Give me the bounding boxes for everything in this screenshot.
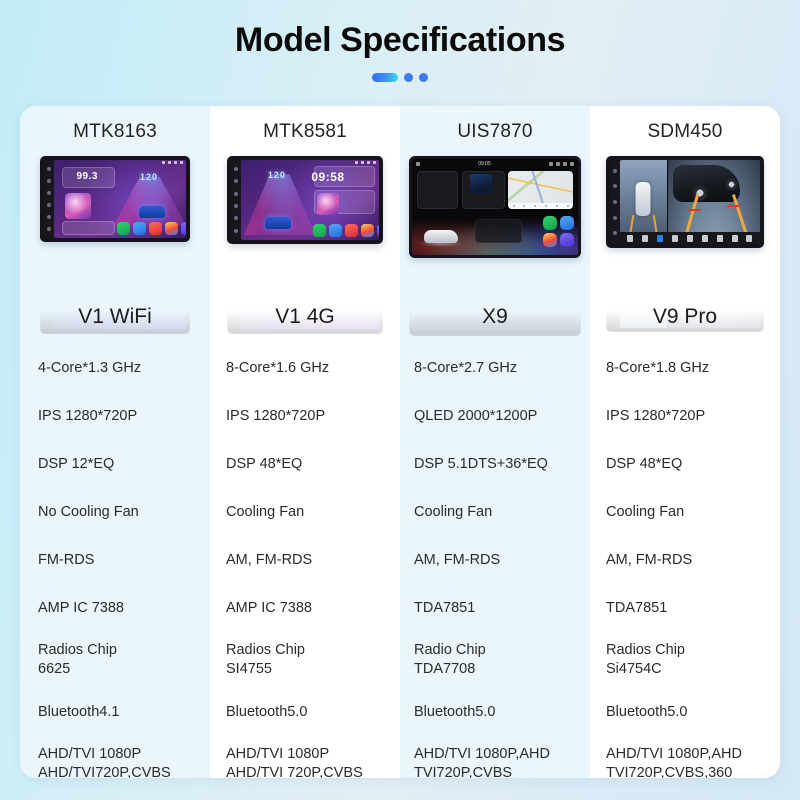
device-screen: 09:05 bbox=[412, 159, 578, 255]
carousel-pagination[interactable] bbox=[0, 71, 800, 83]
spec-cpu-3: 8-Core*2.7 GHz bbox=[400, 344, 590, 392]
chip-name-3: UIS7870 bbox=[400, 106, 590, 150]
spec-dsp-1: DSP 12*EQ bbox=[20, 440, 210, 488]
camera-mode-rear-icon[interactable] bbox=[627, 235, 633, 242]
device-image-v9-pro bbox=[590, 150, 780, 300]
device-image-v1-4g: 120 09:58 bbox=[210, 150, 400, 300]
spec-camera-input-1: AHD/TVI 1080P AHD/TVI720P,CVBS bbox=[20, 736, 210, 778]
app-shortcuts[interactable] bbox=[543, 216, 574, 247]
camera-mode-front-icon[interactable] bbox=[642, 235, 648, 242]
speed-readout: 120 bbox=[140, 172, 158, 182]
spec-radio-chip-3: Radio Chip TDA7708 bbox=[400, 632, 590, 688]
album-art bbox=[470, 174, 492, 194]
spec-cpu-1: 4-Core*1.3 GHz bbox=[20, 344, 210, 392]
device-screen bbox=[620, 160, 760, 244]
spec-radio-chip-2: Radios Chip SI4755 bbox=[210, 632, 400, 688]
camera-360-view bbox=[620, 160, 760, 244]
clock-readout: 09:05 bbox=[478, 161, 491, 167]
camera-mode-left-icon[interactable] bbox=[672, 235, 678, 242]
speed-readout: 120 bbox=[268, 170, 286, 180]
spec-cooling-3: Cooling Fan bbox=[400, 488, 590, 536]
spec-column-mtk8163[interactable]: MTK8163 99.3 120 bbox=[20, 106, 210, 778]
device-sidebar bbox=[231, 160, 241, 240]
spec-radio-chip-1: Radios Chip 6625 bbox=[20, 632, 210, 688]
spec-radio-band-1: FM-RDS bbox=[20, 536, 210, 584]
spec-list-3: 8-Core*2.7 GHz QLED 2000*1200P DSP 5.1DT… bbox=[400, 334, 590, 778]
spec-display-2: IPS 1280*720P bbox=[210, 392, 400, 440]
spec-cpu-2: 8-Core*1.6 GHz bbox=[210, 344, 400, 392]
spec-column-sdm450[interactable]: SDM450 bbox=[590, 106, 780, 778]
map-card bbox=[508, 171, 573, 209]
clock-readout: 09:58 bbox=[311, 170, 344, 184]
spec-dsp-4: DSP 48*EQ bbox=[590, 440, 780, 488]
spec-cpu-4: 8-Core*1.8 GHz bbox=[590, 344, 780, 392]
spec-bluetooth-2: Bluetooth5.0 bbox=[210, 688, 400, 736]
chip-name-2: MTK8581 bbox=[210, 106, 400, 150]
spec-bluetooth-3: Bluetooth5.0 bbox=[400, 688, 590, 736]
spec-cooling-1: No Cooling Fan bbox=[20, 488, 210, 536]
chip-name-4: SDM450 bbox=[590, 106, 780, 150]
device-screen: 99.3 120 bbox=[54, 160, 186, 238]
page-title: Model Specifications bbox=[0, 18, 800, 62]
chip-name-1: MTK8163 bbox=[20, 106, 210, 150]
camera-settings-gear-icon[interactable] bbox=[746, 235, 752, 242]
spec-radio-chip-4: Radios Chip Si4754C bbox=[590, 632, 780, 688]
spec-bluetooth-4: Bluetooth5.0 bbox=[590, 688, 780, 736]
spec-bluetooth-1: Bluetooth4.1 bbox=[20, 688, 210, 736]
radio-frequency: 99.3 bbox=[76, 171, 97, 182]
camera-mode-split-icon[interactable] bbox=[717, 235, 723, 242]
camera-mode-right-icon[interactable] bbox=[687, 235, 693, 242]
spec-comparison-card: MTK8163 99.3 120 bbox=[20, 106, 780, 778]
spec-camera-input-3: AHD/TVI 1080P,AHD TVI720P,CVBS bbox=[400, 736, 590, 778]
status-bar-icons bbox=[162, 161, 183, 164]
page-header: Model Specifications bbox=[0, 0, 800, 83]
car-top-icon bbox=[636, 182, 651, 216]
shortcut-list-card bbox=[417, 171, 459, 209]
device-screen: 120 09:58 bbox=[241, 160, 379, 240]
pagination-active-pill[interactable] bbox=[372, 73, 398, 82]
status-bar: 09:05 bbox=[412, 159, 578, 168]
spec-list-1: 4-Core*1.3 GHz IPS 1280*720P DSP 12*EQ N… bbox=[20, 334, 210, 778]
spec-cooling-4: Cooling Fan bbox=[590, 488, 780, 536]
spec-cooling-2: Cooling Fan bbox=[210, 488, 400, 536]
spec-display-1: IPS 1280*720P bbox=[20, 392, 210, 440]
spec-column-uis7870[interactable]: UIS7870 09:05 bbox=[400, 106, 590, 778]
status-bar-icons bbox=[355, 161, 376, 164]
spec-amp-ic-3: TDA7851 bbox=[400, 584, 590, 632]
trip-info-card bbox=[475, 219, 521, 244]
spec-camera-input-4: AHD/TVI 1080P,AHD TVI720P,CVBS,360 bbox=[590, 736, 780, 778]
camera-view-toolbar[interactable] bbox=[620, 232, 760, 244]
pagination-dot-2[interactable] bbox=[404, 73, 413, 82]
spec-amp-ic-1: AMP IC 7388 bbox=[20, 584, 210, 632]
device-sidebar bbox=[610, 160, 620, 244]
spec-amp-ic-4: TDA7851 bbox=[590, 584, 780, 632]
spec-radio-band-4: AM, FM-RDS bbox=[590, 536, 780, 584]
spec-list-2: 8-Core*1.6 GHz IPS 1280*720P DSP 48*EQ C… bbox=[210, 334, 400, 778]
device-sidebar bbox=[44, 160, 54, 238]
spec-amp-ic-2: AMP IC 7388 bbox=[210, 584, 400, 632]
spec-display-3: QLED 2000*1200P bbox=[400, 392, 590, 440]
model-name-2: V1 4G bbox=[210, 300, 400, 334]
camera-mode-360-icon[interactable] bbox=[657, 235, 663, 242]
spec-radio-band-2: AM, FM-RDS bbox=[210, 536, 400, 584]
camera-mode-record-icon[interactable] bbox=[732, 235, 738, 242]
model-name-3: X9 bbox=[400, 300, 590, 334]
camera-mode-top-icon[interactable] bbox=[702, 235, 708, 242]
pagination-dot-3[interactable] bbox=[419, 73, 428, 82]
device-image-x9: 09:05 bbox=[400, 150, 590, 300]
model-name-1: V1 WiFi bbox=[20, 300, 210, 334]
spec-dsp-2: DSP 48*EQ bbox=[210, 440, 400, 488]
car-illustration bbox=[424, 230, 458, 243]
spec-radio-band-3: AM, FM-RDS bbox=[400, 536, 590, 584]
spec-camera-input-2: AHD/TVI 1080P AHD/TVI 720P,CVBS bbox=[210, 736, 400, 778]
spec-column-mtk8581[interactable]: MTK8581 120 09:58 bbox=[210, 106, 400, 778]
device-image-v1-wifi: 99.3 120 bbox=[20, 150, 210, 300]
model-name-4: V9 Pro bbox=[590, 300, 780, 334]
spec-dsp-3: DSP 5.1DTS+36*EQ bbox=[400, 440, 590, 488]
spec-display-4: IPS 1280*720P bbox=[590, 392, 780, 440]
spec-list-4: 8-Core*1.8 GHz IPS 1280*720P DSP 48*EQ C… bbox=[590, 334, 780, 778]
